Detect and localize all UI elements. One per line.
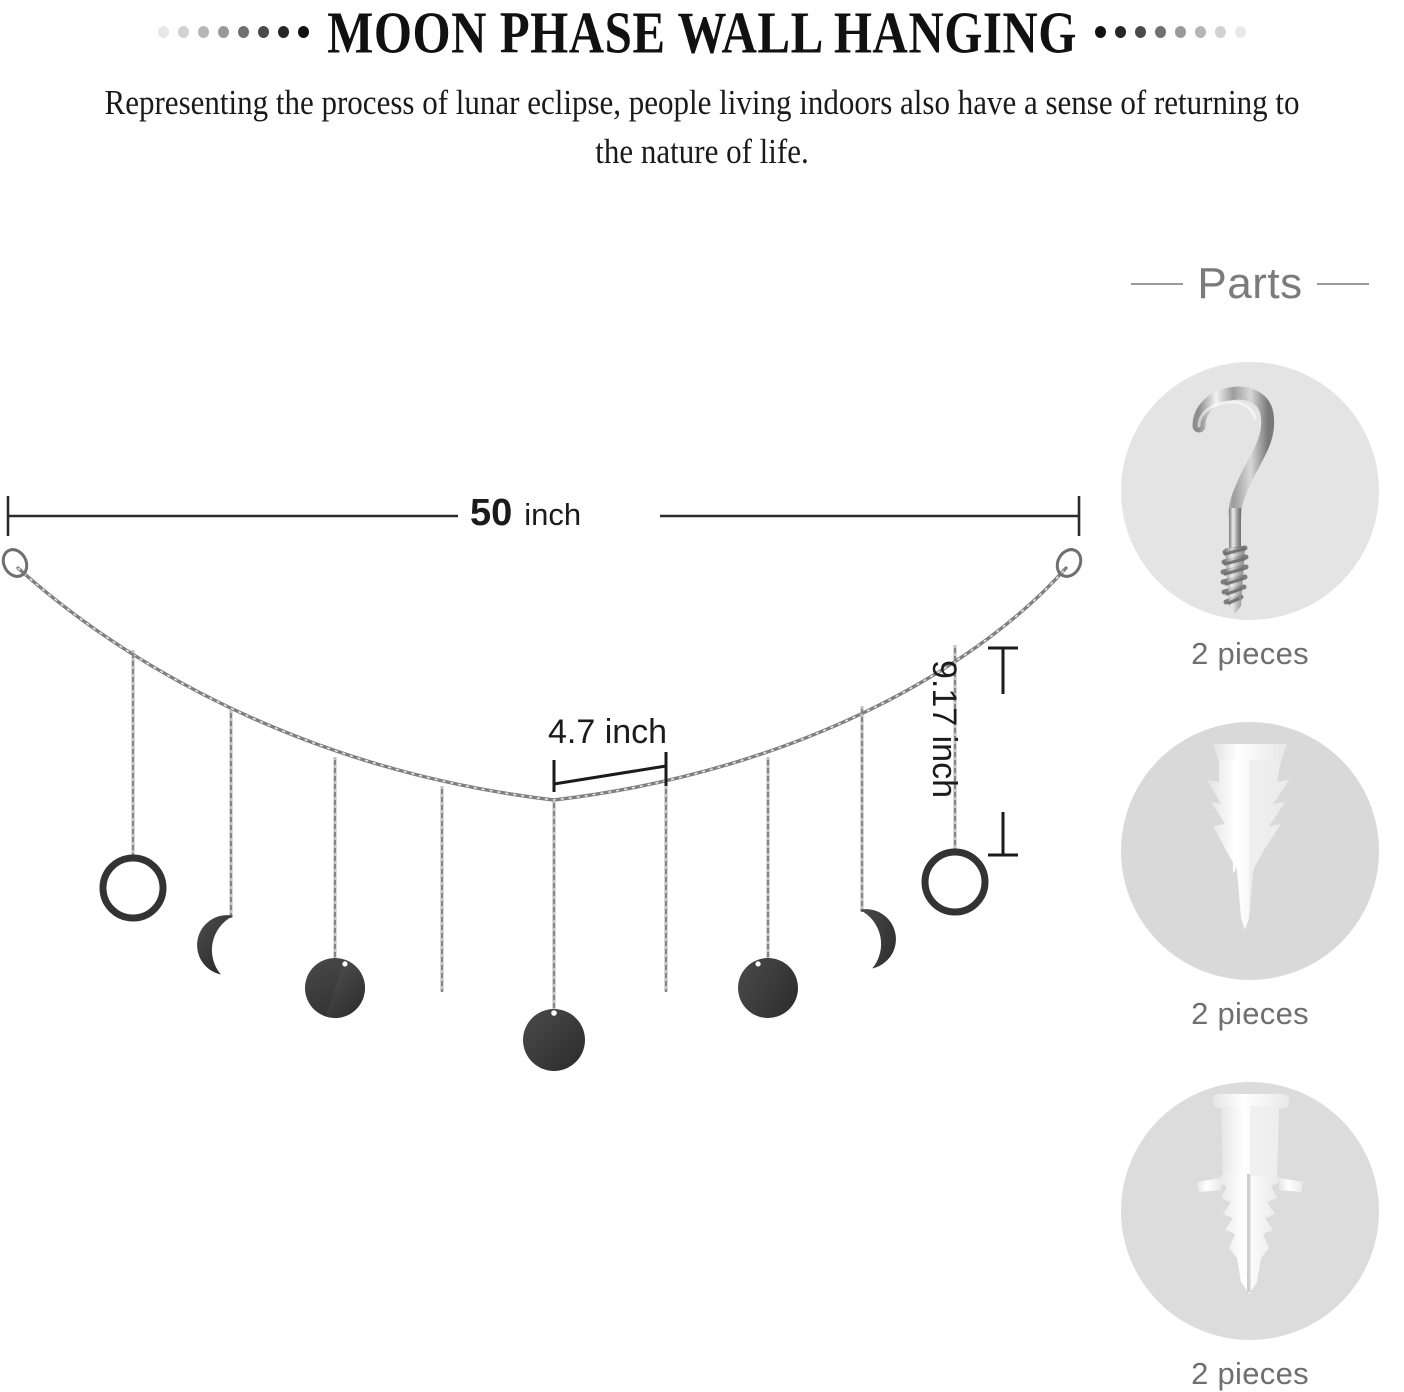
part-item-screw-hook[interactable]: 2 pieces [1096, 362, 1404, 672]
parts-heading: Parts [1096, 254, 1404, 314]
parts-panel: Parts [1096, 240, 1404, 1355]
charm-last-quarter [730, 950, 806, 1026]
dimension-label-width: 50inch [470, 492, 581, 535]
dimension-label-spacing: 4.7 inch [548, 713, 667, 752]
decorative-dots-right [1095, 26, 1246, 38]
drop-chains-highlight [133, 645, 955, 1010]
garland-diagram: 50inch 4.7 inch 9.17 inch [0, 0, 1096, 1358]
decorative-right-dot-1 [1115, 26, 1126, 38]
rule-right [1317, 283, 1369, 285]
charm-waning-crescent [855, 904, 901, 970]
decorative-right-dot-5 [1195, 26, 1206, 38]
charm-waning-gibbous [655, 988, 692, 1050]
screw-hook-icon [1121, 362, 1379, 620]
part-label: 2 pieces [1096, 996, 1404, 1032]
part-circle [1121, 362, 1379, 620]
decorative-right-dot-3 [1155, 26, 1166, 38]
part-circle [1121, 1082, 1379, 1340]
charm-first-quarter [297, 950, 373, 1026]
decorative-right-dot-6 [1215, 26, 1226, 38]
part-circle [1121, 722, 1379, 980]
part-item-drywall-anchor[interactable]: 2 pieces [1096, 722, 1404, 1032]
decorative-right-dot-4 [1175, 26, 1186, 38]
dimension-9-17-inch [988, 648, 1018, 855]
product-infographic: MOON PHASE WALL HANGING Representing the… [0, 0, 1404, 1358]
decorative-right-dot-2 [1135, 26, 1146, 38]
drywall-anchor-icon [1121, 722, 1379, 980]
wall-plug-icon [1121, 1082, 1379, 1340]
part-label: 2 pieces [1096, 636, 1404, 672]
rule-left [1131, 283, 1183, 285]
part-label: 2 pieces [1096, 1356, 1404, 1392]
dimension-width-unit: inch [524, 497, 581, 532]
main-chain [18, 568, 1066, 800]
charm-full-moon [523, 1009, 585, 1071]
dimension-width-value: 50 [470, 492, 512, 534]
drop-chains [133, 645, 955, 1010]
decorative-right-dot-7 [1235, 26, 1246, 38]
part-item-wall-plug[interactable]: 2 pieces [1096, 1082, 1404, 1392]
parts-title: Parts [1197, 259, 1302, 309]
dimension-label-drop: 9.17 inch [924, 660, 963, 798]
decorative-right-dot-0 [1095, 26, 1106, 38]
charm-waxing-gibbous [415, 988, 452, 1050]
charm-new-moon-ring [103, 858, 163, 918]
charm-new-moon-ring [925, 852, 985, 912]
charm-waxing-crescent [192, 910, 238, 976]
